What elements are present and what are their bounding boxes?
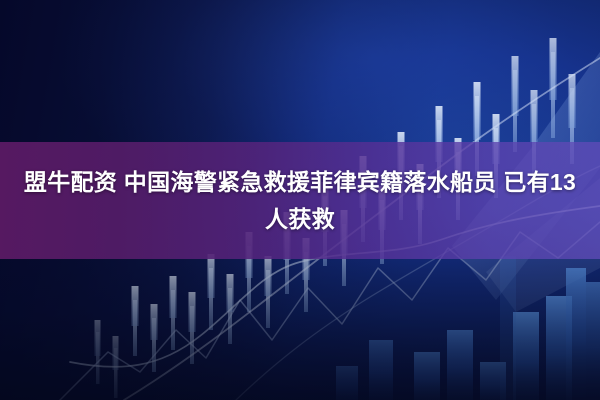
headline-band: 盟牛配资 中国海警紧急救援菲律宾籍落水船员 已有13人获救 bbox=[0, 142, 600, 259]
page-title: 盟牛配资 中国海警紧急救援菲律宾籍落水船员 已有13人获救 bbox=[20, 164, 580, 238]
news-banner: 盟牛配资 中国海警紧急救援菲律宾籍落水船员 已有13人获救 bbox=[0, 0, 600, 400]
